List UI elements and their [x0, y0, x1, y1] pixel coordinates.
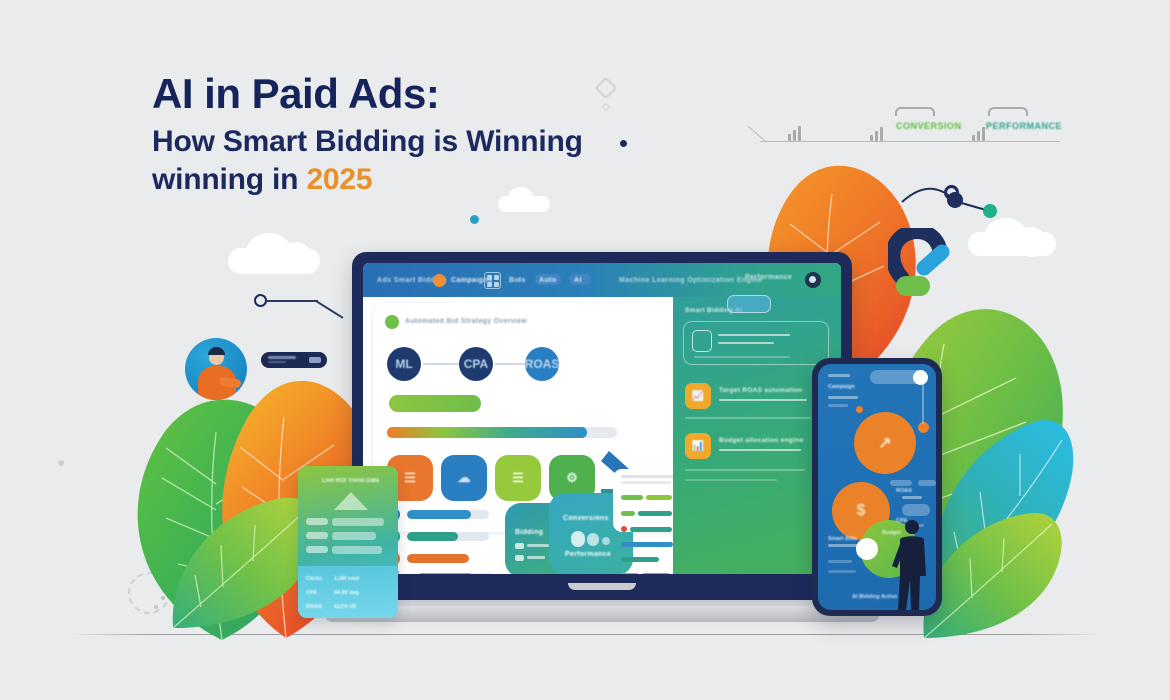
navbar-avatar-dot	[809, 276, 816, 283]
list-bar-0b	[646, 495, 672, 500]
tablet-footer-label-1: CPA	[306, 590, 317, 596]
feature-tile-list[interactable]: ☰	[495, 455, 541, 501]
flow-node-roas-label: ROAS	[525, 357, 560, 371]
list-flag-2	[621, 526, 627, 532]
connector-line-left-b	[316, 300, 344, 318]
list-row-5[interactable]	[621, 573, 670, 574]
tablet-bar-2	[332, 546, 382, 554]
phone-row-line-1	[902, 496, 922, 499]
navbar-tab-auto-label: Auto	[539, 277, 557, 284]
flow-node-ml-label: ML	[395, 357, 412, 371]
navbar-tab-bids[interactable]: Bids	[509, 277, 526, 284]
mini-bar-chart-2	[870, 127, 883, 141]
node-link-graph	[900, 176, 1020, 246]
flow-node-cpa[interactable]: CPA	[459, 347, 493, 381]
list-bar-4	[621, 557, 659, 562]
panel-card-line-1	[718, 334, 790, 336]
tablet-chart-triangle	[334, 492, 368, 510]
phone-footer-line-2	[828, 560, 852, 563]
cloud-icon-left	[228, 248, 320, 274]
mini-bar-chart-3	[972, 127, 985, 141]
overall-progress-fill	[387, 427, 587, 438]
navbar-search-text[interactable]: Performance	[745, 274, 792, 281]
highlight-pill	[389, 395, 481, 412]
metric-bar-2	[407, 554, 469, 563]
list-row-0[interactable]	[621, 495, 672, 500]
top-right-metrics-strip: CONVERSION PERFORMANCE	[760, 95, 1060, 155]
strip-label-conversion: CONVERSION	[896, 121, 962, 131]
metric-fill-3	[417, 573, 473, 574]
decor-dot-tiny	[58, 460, 64, 466]
tooltip-chip	[309, 357, 321, 363]
panel-item-2-label: Budget allocation engine	[719, 437, 803, 444]
panel-item-1-line	[719, 399, 807, 401]
list-bar-1b	[638, 511, 672, 516]
panel-item-2-line	[719, 449, 801, 451]
phone-metric-2-label: CPA	[896, 518, 907, 524]
app-navbar[interactable]: Ads Smart Bidding Campaigns Bids Auto AI…	[363, 263, 841, 297]
list-bar-0	[621, 495, 643, 500]
metric-bar-0	[407, 510, 489, 519]
round-card-bidding-title: Bidding	[515, 529, 543, 536]
diamond-small-icon	[602, 103, 610, 111]
metric-fill-2	[407, 554, 469, 563]
laptop-base	[324, 606, 880, 622]
round-card-conversions-sub: Performance	[565, 551, 611, 558]
panel-badge-budget[interactable]: 📊	[685, 433, 711, 459]
phone-sub-line-2	[828, 404, 848, 407]
laptop-screen: Ads Smart Bidding Campaigns Bids Auto AI…	[363, 263, 841, 574]
tablet-footer-label-2: ROAS	[306, 604, 322, 610]
tablet-bar-0	[332, 518, 384, 526]
avatar-hair	[208, 347, 225, 355]
list-row-4[interactable]	[621, 557, 659, 562]
phone-header-line	[828, 374, 850, 377]
panel-item-2-line-b	[685, 469, 805, 471]
list-bar-2	[630, 527, 672, 532]
phone-node-link	[922, 384, 924, 424]
strip-pill-2	[988, 107, 1028, 116]
panel-item-1-label: Target ROAS automation	[719, 387, 802, 394]
phone-footer-label: AI Bidding Active	[852, 594, 897, 600]
list-bar-1	[621, 511, 635, 516]
panel-card-line-2	[718, 342, 774, 344]
diamond-outline-icon	[595, 77, 618, 100]
metric-bar-1	[407, 532, 489, 541]
phone-chip-1[interactable]	[890, 480, 912, 486]
title-line-3-prefix: winning in	[152, 163, 306, 196]
tablet-device: Live ROI Trend Data Clicks 1.2M total CP…	[298, 466, 398, 618]
navbar-right-text: Machine Learning Optimization Engine	[619, 277, 763, 284]
avatar-tooltip	[261, 352, 327, 368]
panel-badge-roas[interactable]: 📈	[685, 383, 711, 409]
panel-item-2-line-c	[685, 479, 777, 481]
accent-dot-teal	[470, 215, 479, 224]
avatar	[185, 338, 247, 400]
strip-label-performance: PERFORMANCE	[986, 121, 1062, 131]
title-line-1: AI in Paid Ads:	[152, 72, 583, 116]
tablet-footer-label-0: Clicks	[306, 576, 322, 582]
phone-screen: ↗ $ Budget AI Bi	[818, 364, 936, 610]
laptop-lid: Ads Smart Bidding Campaigns Bids Auto AI…	[352, 252, 852, 600]
flow-node-ml[interactable]: ML	[387, 347, 421, 381]
strip-pill-1	[895, 107, 935, 116]
title-line-2: How Smart Bidding is Winning	[152, 123, 583, 161]
tablet-footer-value-2: 412% lift	[334, 604, 356, 610]
phone-mini-card	[902, 504, 930, 516]
tablet-footer-value-1: $4.80 avg	[334, 590, 359, 596]
phone-avatar-dot[interactable]	[913, 370, 928, 385]
tablet-footer-panel: Clicks 1.2M total CPA $4.80 avg ROAS 412…	[298, 566, 398, 618]
tablet-title: Live ROI Trend Data	[322, 478, 379, 484]
phone-metric-circle-roas[interactable]: ↗	[854, 412, 916, 474]
phone-sub-line-1	[828, 396, 858, 399]
tooltip-line-2	[268, 361, 286, 363]
status-badge	[385, 315, 399, 329]
metric-fill-1	[407, 532, 458, 541]
list-row-2[interactable]	[621, 526, 672, 532]
panel-item-1-line-b	[685, 417, 811, 419]
avatar-group	[185, 338, 247, 400]
phone-header-label: Campaign	[828, 384, 855, 390]
tablet-chip-1	[306, 532, 328, 539]
panel-card-top[interactable]	[683, 321, 829, 365]
round-card-conversions-title: Conversions	[563, 515, 609, 522]
navbar-tab-ai-label: AI	[574, 277, 582, 284]
phone-device: ↗ $ Budget AI Bi	[812, 358, 942, 616]
title-year: 2025	[306, 163, 372, 196]
phone-body-label: Smart Bids	[828, 536, 857, 542]
navbar-accent-dot	[433, 274, 446, 287]
phone-metric-1-label: ROAS	[896, 488, 912, 494]
list-bar-5b	[642, 573, 670, 574]
list-bar-3	[621, 542, 673, 547]
accent-dot-navy	[620, 140, 627, 147]
laptop-device: Ads Smart Bidding Campaigns Bids Auto AI…	[352, 252, 852, 622]
flow-link-1	[423, 363, 459, 365]
laptop-notch	[568, 583, 636, 590]
list-row-3[interactable]	[621, 542, 673, 547]
tablet-chip-2	[306, 546, 328, 553]
phone-footer-line-3	[828, 570, 856, 573]
phone-footer-line-1	[828, 544, 858, 547]
tablet-footer-value-0: 1.2M total	[334, 576, 359, 582]
metric-fill-0	[407, 510, 471, 519]
tooltip-line-1	[268, 356, 296, 359]
list-row-1[interactable]	[621, 511, 672, 516]
strip-baseline	[760, 141, 1060, 142]
flow-node-roas[interactable]: ROAS	[525, 347, 559, 381]
tablet-bar-1	[332, 532, 376, 540]
title-line-3: winning in 2025	[152, 161, 583, 199]
connector-line-left-a	[266, 300, 318, 302]
flow-node-cpa-label: CPA	[464, 357, 488, 371]
feature-tile-cloud-ai[interactable]: ☁	[441, 455, 487, 501]
panel-card-line-3	[694, 356, 790, 358]
navbar-grid-icon[interactable]	[484, 272, 501, 289]
tablet-chip-0	[306, 518, 328, 525]
poster-canvas: AI in Paid Ads: How Smart Bidding is Win…	[0, 0, 1170, 700]
phone-chip-2[interactable]	[918, 480, 936, 486]
mini-bar-chart-1	[788, 126, 801, 141]
metric-bar-3	[417, 573, 495, 574]
flow-link-2	[495, 363, 525, 365]
phone-metric-roas-glyph: ↗	[854, 412, 916, 474]
card-section-title: Automated Bid Strategy Overview	[405, 318, 527, 325]
poster-title: AI in Paid Ads: How Smart Bidding is Win…	[152, 72, 583, 200]
list-bar-5	[621, 573, 639, 574]
overall-progress-bar	[387, 427, 617, 438]
person-silhouette-icon	[892, 518, 932, 610]
